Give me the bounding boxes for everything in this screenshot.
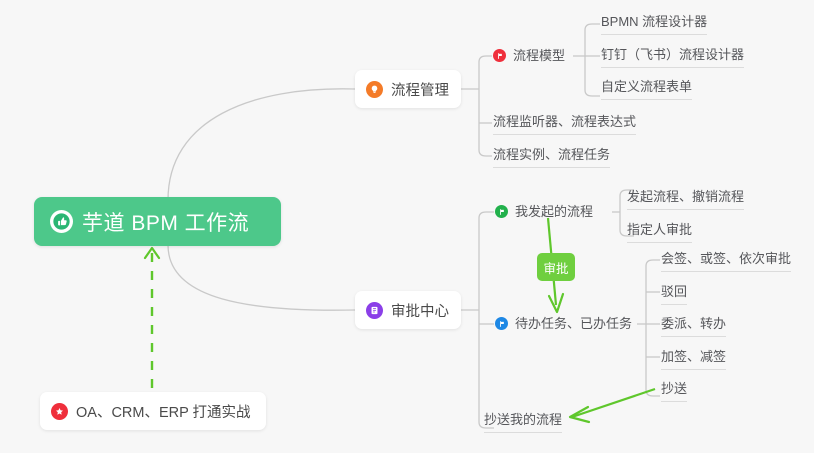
leaf-label-my-started-processes: 我发起的流程 bbox=[515, 203, 593, 220]
wire-flow-bottom-corner bbox=[479, 150, 492, 156]
wire-flow-top-corner bbox=[479, 56, 492, 62]
annotation-card-label: OA、CRM、ERP 打通实战 bbox=[76, 401, 251, 422]
root-node[interactable]: 芋道 BPM 工作流 bbox=[34, 197, 281, 246]
leaf-label-bpmn-designer: BPMN 流程设计器 bbox=[601, 14, 707, 29]
branch-node-approval-center[interactable]: 审批中心 bbox=[355, 291, 461, 329]
leaf-bpmn-designer[interactable]: BPMN 流程设计器 bbox=[601, 13, 707, 35]
wire-model-c3 bbox=[585, 90, 600, 96]
leaf-cc-to-me[interactable]: 抄送我的流程 bbox=[484, 411, 562, 433]
leaf-label-multi-sign: 会签、或签、依次审批 bbox=[661, 251, 791, 266]
leaf-multi-sign[interactable]: 会签、或签、依次审批 bbox=[661, 250, 791, 272]
leaf-label-delegate-transfer: 委派、转办 bbox=[661, 316, 726, 331]
branch-label-approval-center: 审批中心 bbox=[391, 300, 449, 321]
star-icon bbox=[51, 403, 68, 420]
annotation-badge-label: 审批 bbox=[543, 258, 568, 277]
leaf-label-custom-form: 自定义流程表单 bbox=[601, 79, 692, 94]
branch-label-flow-management: 流程管理 bbox=[391, 79, 449, 100]
wire-root-to-approval bbox=[168, 245, 355, 310]
leaf-carbon-copy[interactable]: 抄送 bbox=[661, 380, 687, 402]
wire-model-c1 bbox=[585, 24, 600, 30]
wire-todo-c1 bbox=[646, 260, 660, 266]
leaf-start-cancel-process[interactable]: 发起流程、撤销流程 bbox=[627, 188, 744, 210]
flag-icon bbox=[493, 49, 506, 62]
leaf-label-add-remove-sign: 加签、减签 bbox=[661, 349, 726, 364]
annotation-badge-approval: 审批 bbox=[537, 253, 575, 281]
branch-node-flow-management[interactable]: 流程管理 bbox=[355, 70, 461, 108]
leaf-label-flow-instance: 流程实例、流程任务 bbox=[493, 147, 610, 162]
annotation-arrow-oa bbox=[145, 248, 159, 388]
leaf-my-started-processes[interactable]: 我发起的流程 bbox=[495, 203, 593, 224]
lightbulb-icon bbox=[366, 81, 383, 98]
leaf-add-remove-sign[interactable]: 加签、减签 bbox=[661, 348, 726, 370]
wire-approval-c1 bbox=[479, 212, 494, 218]
leaf-label-flow-listener: 流程监听器、流程表达式 bbox=[493, 114, 636, 129]
clipboard-icon bbox=[366, 302, 383, 319]
annotation-arrow-cc bbox=[570, 389, 655, 422]
leaf-todo-done-tasks[interactable]: 待办任务、已办任务 bbox=[495, 315, 632, 336]
leaf-label-flow-model: 流程模型 bbox=[513, 47, 565, 64]
leaf-label-dingtalk-designer: 钉钉（飞书）流程设计器 bbox=[601, 47, 744, 62]
annotation-card-oa-crm-erp[interactable]: OA、CRM、ERP 打通实战 bbox=[40, 392, 266, 430]
flag-icon bbox=[495, 205, 508, 218]
leaf-assignee-approval[interactable]: 指定人审批 bbox=[627, 221, 692, 243]
leaf-label-reject: 驳回 bbox=[661, 284, 687, 299]
leaf-label-cc-to-me: 抄送我的流程 bbox=[484, 412, 562, 427]
wire-todo-c5 bbox=[646, 390, 660, 396]
mindmap-canvas: 芋道 BPM 工作流 流程管理 流程模型 流程监听器、流程表达式 流程实例、流程… bbox=[0, 0, 814, 453]
leaf-reject[interactable]: 驳回 bbox=[661, 283, 687, 305]
wire-root-to-flow bbox=[168, 89, 355, 200]
leaf-flow-listener[interactable]: 流程监听器、流程表达式 bbox=[493, 113, 636, 135]
leaf-flow-model[interactable]: 流程模型 bbox=[493, 47, 565, 68]
leaf-label-todo-done-tasks: 待办任务、已办任务 bbox=[515, 315, 632, 332]
leaf-flow-instance[interactable]: 流程实例、流程任务 bbox=[493, 146, 610, 168]
leaf-label-assignee-approval: 指定人审批 bbox=[627, 222, 692, 237]
leaf-label-start-cancel-process: 发起流程、撤销流程 bbox=[627, 189, 744, 204]
flag-icon bbox=[495, 317, 508, 330]
root-label: 芋道 BPM 工作流 bbox=[82, 207, 249, 237]
leaf-custom-form[interactable]: 自定义流程表单 bbox=[601, 78, 692, 100]
leaf-dingtalk-designer[interactable]: 钉钉（飞书）流程设计器 bbox=[601, 46, 744, 68]
leaf-delegate-transfer[interactable]: 委派、转办 bbox=[661, 315, 726, 337]
thumbs-up-icon bbox=[50, 210, 73, 233]
leaf-label-carbon-copy: 抄送 bbox=[661, 381, 687, 396]
